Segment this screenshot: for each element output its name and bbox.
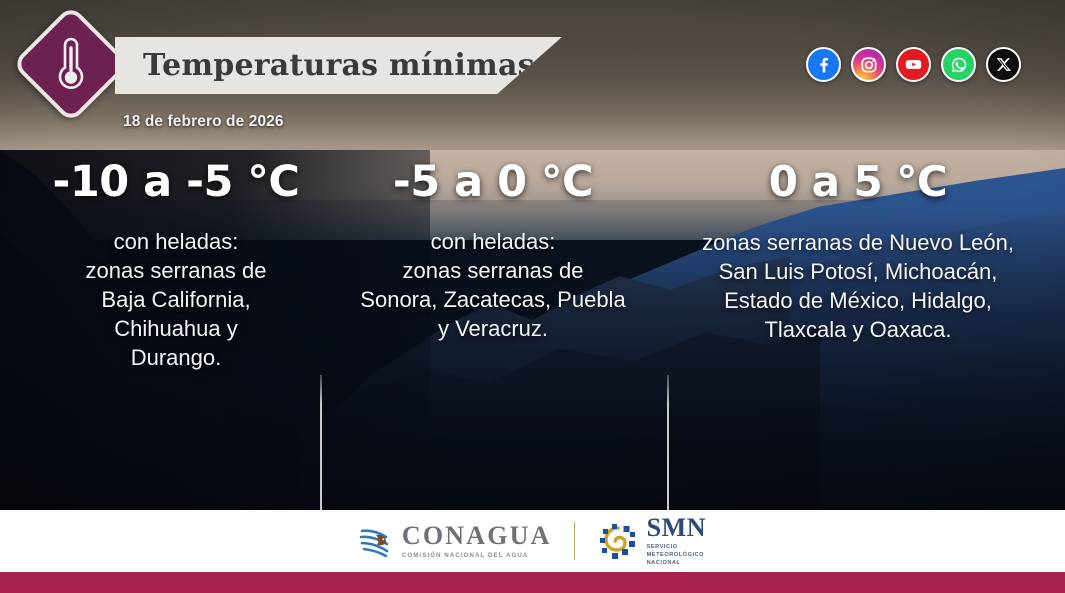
- facebook-icon[interactable]: [806, 47, 841, 82]
- social-links: [806, 47, 1021, 82]
- smn-subtitle-line: SERVICIO: [647, 543, 707, 551]
- weather-infographic: Temperaturas mínimas 18 de febrero de 20…: [0, 0, 1065, 593]
- zone-line: zonas serranas de: [18, 256, 334, 285]
- zone-line: con heladas:: [18, 227, 334, 256]
- zone-line: con heladas:: [342, 227, 644, 256]
- x-icon[interactable]: [986, 47, 1021, 82]
- temperature-range: -5 a 0 °C: [342, 160, 644, 205]
- zone-line: Baja California,: [18, 285, 334, 314]
- zone-line: San Luis Potosí, Michoacán,: [668, 257, 1048, 286]
- smn-subtitle-line: NACIONAL: [647, 559, 707, 567]
- whatsapp-icon[interactable]: [941, 47, 976, 82]
- zone-line: zonas serranas de Nuevo León,: [668, 228, 1048, 257]
- logo-divider: [574, 522, 575, 560]
- zone-line: y Veracruz.: [342, 314, 644, 343]
- temperature-columns: -10 a -5 °C con heladas: zonas serranas …: [0, 160, 1065, 490]
- conagua-name: CONAGUA: [402, 523, 552, 549]
- smn-name: SMN: [647, 515, 707, 541]
- temperature-zones: con heladas: zonas serranas de Sonora, Z…: [342, 227, 644, 343]
- conagua-logo: CONAGUA COMISIÓN NACIONAL DEL AGUA: [359, 521, 552, 561]
- smn-subtitle: SERVICIO METEOROLÓGICO NACIONAL: [647, 543, 707, 567]
- header: Temperaturas mínimas 18 de febrero de 20…: [0, 0, 1065, 150]
- conagua-eagle-icon: [359, 521, 393, 561]
- footer: CONAGUA COMISIÓN NACIONAL DEL AGUA: [0, 510, 1065, 572]
- temperature-zones: zonas serranas de Nuevo León, San Luis P…: [668, 228, 1048, 344]
- smn-logo: SMN SERVICIO METEOROLÓGICO NACIONAL: [597, 515, 707, 567]
- conagua-subtitle: COMISIÓN NACIONAL DEL AGUA: [402, 552, 552, 559]
- smn-spiral-icon: [597, 520, 639, 562]
- temperature-range: -10 a -5 °C: [18, 160, 334, 205]
- forecast-date: 18 de febrero de 2026: [123, 113, 284, 131]
- title-banner: Temperaturas mínimas: [115, 37, 562, 94]
- bottom-accent-bar: [0, 572, 1065, 593]
- thermometer-icon: [53, 35, 89, 93]
- temperature-range: 0 a 5 °C: [668, 160, 1048, 204]
- zone-line: Tlaxcala y Oaxaca.: [668, 315, 1048, 344]
- temperature-column-1: -10 a -5 °C con heladas: zonas serranas …: [18, 160, 334, 372]
- temperature-zones: con heladas: zonas serranas de Baja Cali…: [18, 227, 334, 372]
- temperature-column-3: 0 a 5 °C zonas serranas de Nuevo León, S…: [668, 160, 1048, 344]
- page-title: Temperaturas mínimas: [143, 48, 535, 83]
- zone-line: Durango.: [18, 343, 334, 372]
- youtube-icon[interactable]: [896, 47, 931, 82]
- smn-subtitle-line: METEOROLÓGICO: [647, 551, 707, 559]
- instagram-icon[interactable]: [851, 47, 886, 82]
- zone-line: Chihuahua y: [18, 314, 334, 343]
- temperature-column-2: -5 a 0 °C con heladas: zonas serranas de…: [342, 160, 644, 343]
- zone-line: Sonora, Zacatecas, Puebla: [342, 285, 644, 314]
- zone-line: Estado de México, Hidalgo,: [668, 286, 1048, 315]
- footer-logos: CONAGUA COMISIÓN NACIONAL DEL AGUA: [359, 515, 706, 567]
- zone-line: zonas serranas de: [342, 256, 644, 285]
